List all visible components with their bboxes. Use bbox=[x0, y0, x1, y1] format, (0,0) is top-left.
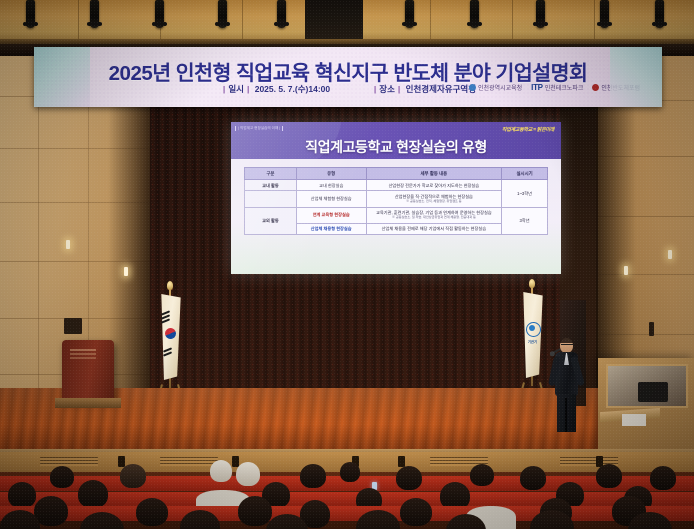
stage-light-icon bbox=[218, 0, 227, 28]
banner-title: 2025년 인천형 직업교육 혁신지구 반도체 분야 기업설명회 bbox=[34, 56, 662, 86]
cell-category: 교외 활동 bbox=[245, 207, 297, 235]
audience-head bbox=[300, 464, 326, 488]
cell-period: 1~3학년 bbox=[502, 180, 548, 208]
col-detail: 세부 활동 내용 bbox=[366, 168, 502, 180]
forum-icon bbox=[592, 84, 599, 91]
event-banner: 2025년 인천형 직업교육 혁신지구 반도체 분야 기업설명회 |일시| 20… bbox=[34, 47, 662, 107]
cell-type: 교내 현장실습 bbox=[296, 180, 366, 191]
audience-area bbox=[0, 452, 694, 529]
organization-emblem-icon bbox=[526, 322, 541, 337]
organization-flag-label: 기관기 bbox=[524, 339, 541, 344]
projection-screen: | 직업계고 현장실습의 이해 | 직업계고등학교 = 밝은미래 직업계고등학교… bbox=[231, 122, 561, 274]
table-row: 교내 활동 교내 현장실습 산업현장 전문가가 학교로 찾아가 지도하는 현장실… bbox=[245, 180, 548, 191]
wall-light-icon bbox=[668, 250, 672, 259]
audience-head bbox=[78, 480, 108, 508]
cell-category bbox=[245, 191, 297, 207]
audience-head bbox=[470, 464, 494, 486]
stage-light-icon bbox=[405, 0, 414, 28]
stage-light-icon bbox=[470, 0, 479, 28]
cell-detail: 산업현장을 직·간접적으로 체험하는 현장실습 ※ 공동실습소, 전직, 체험형… bbox=[366, 191, 502, 207]
banner-place-label: 장소 bbox=[379, 84, 395, 94]
banner-date-value: 2025. 5. 7.(수)14:00 bbox=[255, 84, 330, 94]
logo-itp: ITP 인천테크노파크 bbox=[531, 83, 583, 92]
logo-semiconductor-forum: 인천반도체포럼 bbox=[592, 83, 640, 92]
cell-detail: 산업현장 전문가가 학교로 찾아가 지도하는 현장실습 bbox=[366, 180, 502, 191]
control-booth bbox=[598, 358, 694, 454]
banner-logo-row: 인천광역시교육청 ITP 인천테크노파크 인천반도체포럼 bbox=[469, 83, 640, 92]
slide-table: 구분 유형 세부 활동 내용 실시시기 교내 활동 교내 현장실습 산업현장 전… bbox=[244, 167, 548, 235]
slide-logo-text: 직업계고등학교 = 밝은미래 bbox=[502, 126, 554, 133]
cell-type: 연계 교육형 현장실습 bbox=[296, 207, 366, 223]
auditorium-photo: 2025년 인천형 직업교육 혁신지구 반도체 분야 기업설명회 |일시| 20… bbox=[0, 0, 694, 529]
flag-finial bbox=[529, 279, 535, 288]
audience-head bbox=[50, 466, 74, 488]
glasses-icon bbox=[561, 344, 573, 348]
stage-light-icon bbox=[26, 0, 35, 28]
cell-detail: 교육기관, 훈련기관, 실습장, 기업 등과 연계하여 운영하는 현장실습 ※ … bbox=[366, 207, 502, 223]
slide-body: 구분 유형 세부 활동 내용 실시시기 교내 활동 교내 현장실습 산업현장 전… bbox=[231, 159, 561, 274]
wall-light-icon bbox=[624, 266, 628, 275]
audience-head bbox=[396, 466, 422, 490]
cell-type: 산업체 체험형 현장실습 bbox=[296, 191, 366, 207]
audience-head bbox=[340, 462, 360, 482]
audience-head bbox=[8, 482, 36, 508]
crest-icon bbox=[469, 84, 476, 91]
stage-cabinet bbox=[62, 340, 114, 402]
audience-head bbox=[400, 498, 432, 526]
table-header-row: 구분 유형 세부 활동 내용 실시시기 bbox=[245, 168, 548, 180]
col-type: 유형 bbox=[296, 168, 366, 180]
col-period: 실시시기 bbox=[502, 168, 548, 180]
banner-place-value: 인천경제자유구역청 bbox=[406, 84, 476, 94]
audience-head bbox=[210, 460, 232, 482]
table-row: 교외 활동 연계 교육형 현장실습 교육기관, 훈련기관, 실습장, 기업 등과… bbox=[245, 207, 548, 223]
booth-papers bbox=[622, 414, 646, 426]
slide-tag: | 직업계고 현장실습의 이해 | bbox=[235, 126, 283, 131]
wall-light-icon bbox=[124, 267, 128, 276]
slide-header: | 직업계고 현장실습의 이해 | 직업계고등학교 = 밝은미래 직업계고등학교… bbox=[231, 122, 561, 159]
cell-type: 산업체 채용형 현장실습 bbox=[296, 223, 366, 234]
presenter-legs bbox=[557, 394, 576, 432]
col-category: 구분 bbox=[245, 168, 297, 180]
audience-head bbox=[520, 466, 546, 490]
presenter bbox=[548, 338, 584, 432]
audience-head bbox=[120, 464, 146, 488]
ceiling-recess bbox=[305, 0, 363, 44]
slide-title: 직업계고등학교 현장실습의 유형 bbox=[231, 137, 561, 157]
cell-detail: 산업체 채용을 전제로 해당 기업에서 직접 활동하는 현장실습 bbox=[366, 223, 502, 234]
audience-head bbox=[136, 498, 168, 526]
audience-head bbox=[238, 496, 272, 526]
cell-category: 교내 활동 bbox=[245, 180, 297, 191]
stage-light-icon bbox=[655, 0, 664, 28]
logo-education-office: 인천광역시교육청 bbox=[469, 83, 522, 92]
flag-finial bbox=[167, 281, 173, 290]
stage-light-icon bbox=[155, 0, 164, 28]
stage-light-icon bbox=[536, 0, 545, 28]
stage-light-icon bbox=[600, 0, 609, 28]
stage-light-icon bbox=[90, 0, 99, 28]
stage-light-icon bbox=[277, 0, 286, 28]
wall-vent bbox=[649, 322, 654, 336]
audience-head bbox=[596, 464, 622, 488]
cell-period: 3학년 bbox=[502, 207, 548, 235]
wall-vent bbox=[64, 318, 82, 334]
audience-head bbox=[236, 462, 260, 486]
stage-cabinet-base bbox=[55, 398, 121, 408]
wall-light-icon bbox=[66, 240, 70, 249]
audience-head bbox=[650, 466, 676, 490]
banner-date-label: 일시 bbox=[228, 84, 244, 94]
booth-window bbox=[606, 364, 688, 408]
